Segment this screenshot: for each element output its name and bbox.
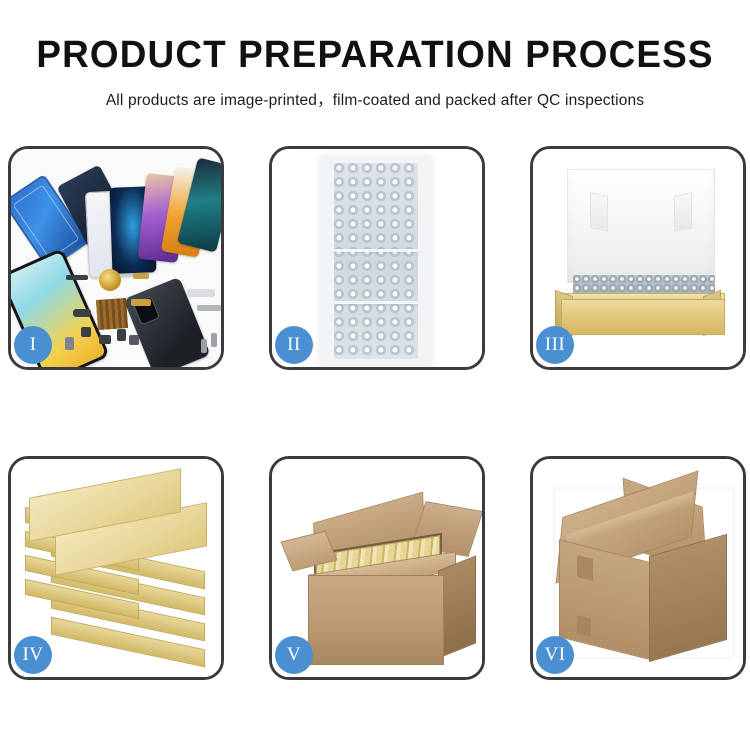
step-badge-5: V [275, 636, 313, 674]
process-step-panel-1: I [8, 146, 224, 370]
tool-icon [187, 289, 215, 297]
step-badge-2: II [275, 326, 313, 364]
page-header: PRODUCT PREPARATION PROCESS All products… [0, 36, 750, 110]
product-preparation-page: PRODUCT PREPARATION PROCESS All products… [0, 0, 750, 750]
box-front-panel [561, 299, 725, 335]
carton-handle-tab [577, 615, 591, 636]
carton-handle-tab [577, 555, 593, 581]
process-step-panel-5: V [269, 456, 485, 680]
carton-front-panel [308, 575, 444, 665]
process-step-panel-3: III [530, 146, 746, 370]
step-badge-1: I [14, 326, 52, 364]
process-step-panel-4: Mobile Phone Spare Parts Mobile Phone Sp… [8, 456, 224, 680]
flex-cable-icon [131, 299, 151, 306]
lid-tab-right [674, 192, 692, 232]
screw-icon [201, 339, 207, 353]
spare-part-icon [65, 337, 74, 350]
box-lid-icon [567, 169, 715, 283]
step-badge-3: III [536, 326, 574, 364]
step-badge-4: IV [14, 636, 52, 674]
spare-part-icon [129, 335, 139, 345]
pouch-seam [334, 249, 418, 252]
spare-part-icon [117, 329, 126, 341]
coil-part-icon [99, 269, 121, 291]
tool-icon [197, 305, 221, 311]
process-step-grid: I II [8, 146, 746, 682]
flex-cable-icon [133, 273, 149, 279]
spare-part-icon [73, 309, 91, 317]
page-title: PRODUCT PREPARATION PROCESS [11, 36, 739, 74]
process-step-panel-2: II [269, 146, 485, 370]
step-badge-6: VI [536, 636, 574, 674]
page-subtitle: All products are image-printed，film-coat… [0, 88, 750, 110]
bubble-texture [334, 163, 418, 359]
chip-array-icon [96, 298, 128, 330]
process-step-panel-6: VI [530, 456, 746, 680]
carton-side-face [649, 534, 727, 662]
lid-tab-left [590, 192, 608, 232]
spare-part-icon [81, 327, 91, 337]
bubble-wrap-pouch-icon [320, 157, 432, 365]
spare-part-icon [99, 335, 111, 344]
pouch-seam [334, 301, 418, 304]
screw-icon [211, 333, 217, 347]
spare-part-icon [66, 275, 88, 280]
